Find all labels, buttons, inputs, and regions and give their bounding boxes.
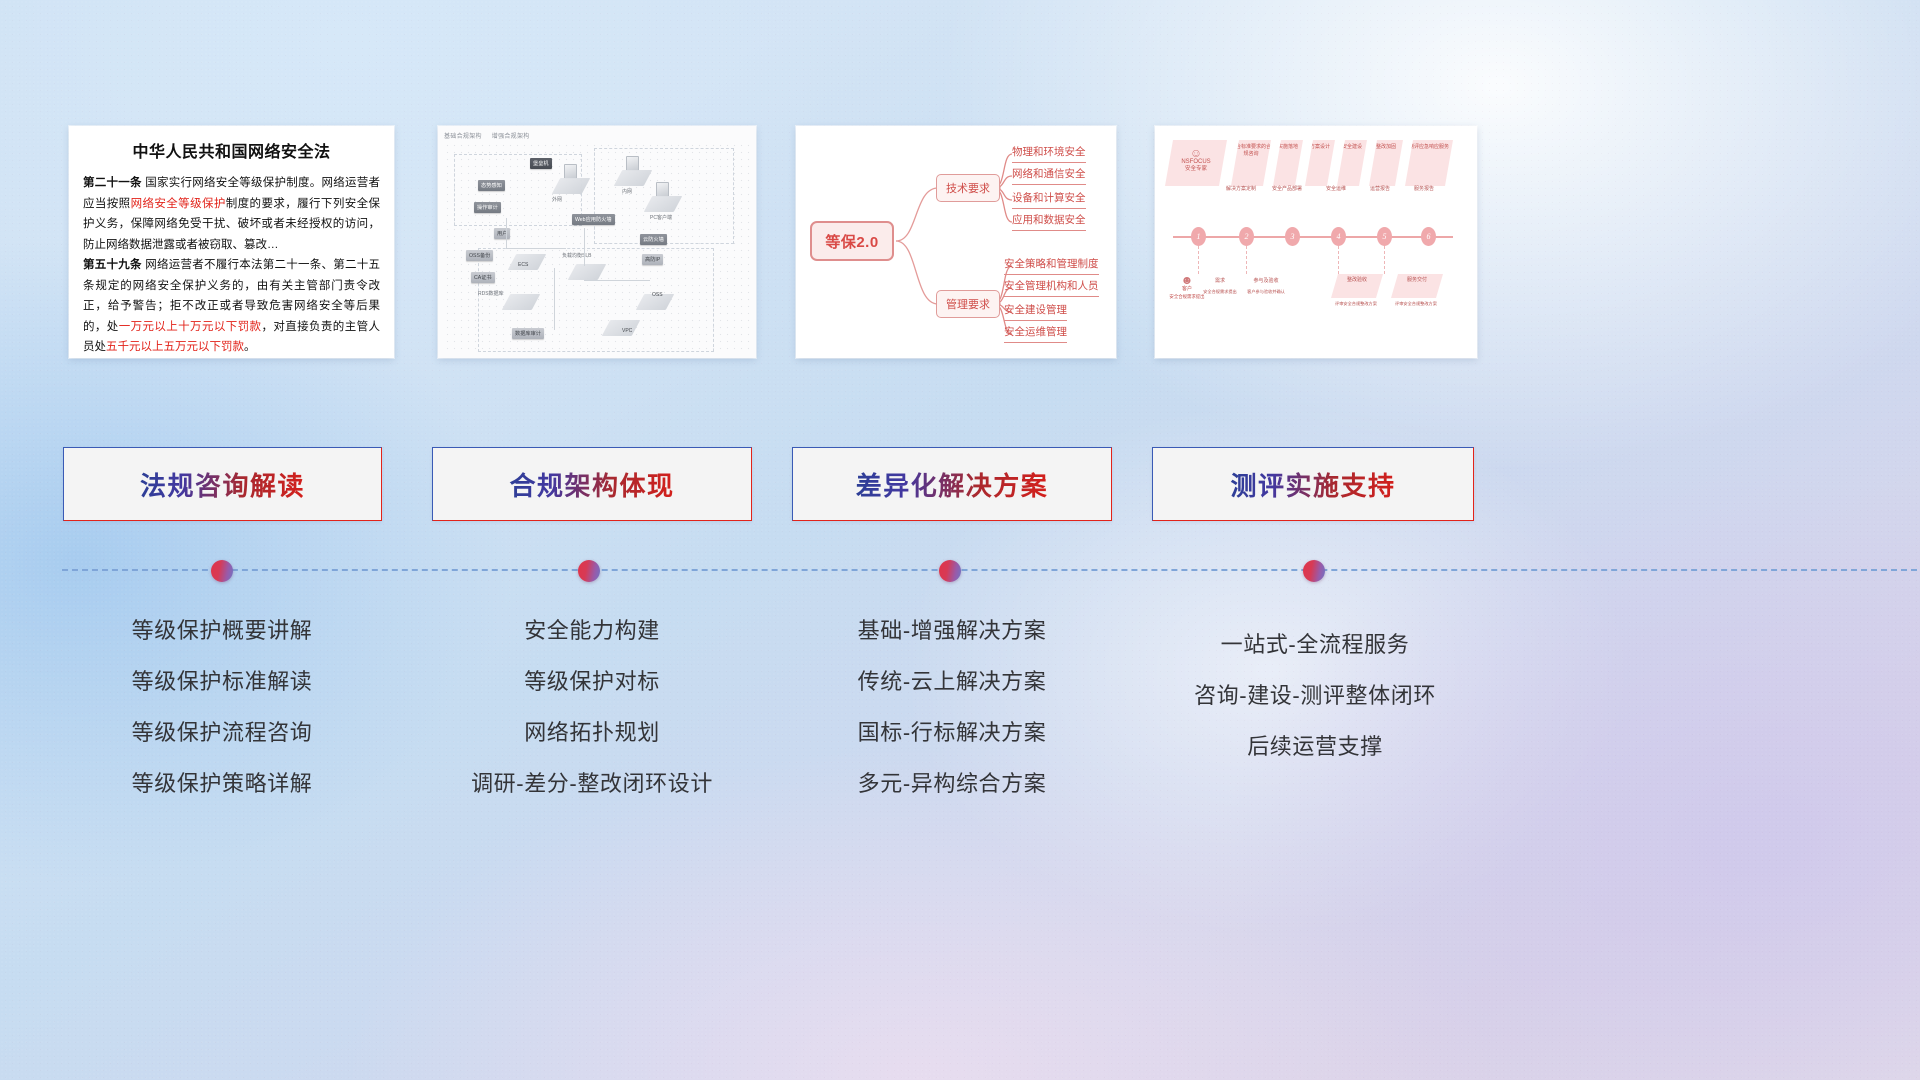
preview-cards-row: 中华人民共和国网络安全法 第二十一条 国家实行网络安全等级保护制度。网络运营者应…	[0, 126, 1920, 364]
nsfocus-bottom-tag-0: 需求	[1203, 278, 1237, 285]
nsfocus-ribbon-item-3: 安全建设	[1337, 140, 1367, 186]
architecture-diagram: 基础合规架构 增强合规架构 堡垒机 态势感知 操作审计 用户 CA证书 外网	[438, 126, 756, 358]
arch-node-oss-backup: OSS备份	[466, 250, 493, 261]
nsfocus-ribbon-item-1: 实施落地	[1273, 140, 1303, 186]
mindmap-root-node: 等保2.0	[810, 221, 894, 261]
nsfocus-bottom-trap-0-title: 整改验收	[1347, 277, 1367, 283]
arch-node-waf: Web应用防火墙	[572, 214, 615, 225]
mindmap-leaf-network: 网络和通信安全	[1012, 166, 1086, 185]
nsfocus-step-4: 4	[1331, 227, 1346, 246]
timeline-dashed-line	[62, 569, 1917, 571]
architecture-tab-basic: 基础合规架构	[444, 134, 482, 140]
list-item: 等级保护标准解读	[62, 656, 382, 707]
headline-box-regulation-consulting[interactable]: 法规咨询解读	[63, 447, 382, 521]
article-59-highlight-1: 一万元以上十万元以下罚款	[119, 321, 262, 333]
article-21-label: 第二十一条	[83, 177, 142, 189]
arch-label-slb: 负载均衡SLB	[562, 252, 591, 259]
nsfocus-step-3: 3	[1285, 227, 1300, 246]
card-nsfocus-service-flow[interactable]: ☺ NSFOCUS 安全专家 符合标准要求的合规咨询 实施落地 方案设计 安全建…	[1155, 126, 1477, 358]
list-item: 等级保护对标	[432, 656, 752, 707]
nsfocus-diagram: ☺ NSFOCUS 安全专家 符合标准要求的合规咨询 实施落地 方案设计 安全建…	[1155, 126, 1477, 358]
column-regulation-consulting: 等级保护概要讲解 等级保护标准解读 等级保护流程咨询 等级保护策略详解	[62, 605, 382, 809]
nsfocus-customer-role: ☻ 客户 安全合规需求提出	[1167, 274, 1207, 300]
card-compliance-architecture[interactable]: 基础合规架构 增强合规架构 堡垒机 态势感知 操作审计 用户 CA证书 外网	[438, 126, 756, 358]
nsfocus-bottom-tag-1: 参与及验收	[1247, 278, 1285, 285]
nsfocus-ribbon-item-4: 整改加固	[1369, 140, 1403, 186]
nsfocus-bottom-trap-0: 整改验收	[1331, 274, 1383, 298]
mindmap-leaf-org: 安全管理机构和人员	[1004, 278, 1099, 297]
mindmap-leaf-physical: 物理和环境安全	[1012, 144, 1086, 163]
nsfocus-bottom-trap-1-title: 服务交付	[1407, 277, 1427, 283]
list-item: 传统-云上解决方案	[792, 656, 1112, 707]
nsfocus-sub-item-3: 运营报告	[1363, 186, 1397, 193]
arch-node-situation: 态势感知	[478, 180, 505, 191]
law-title: 中华人民共和国网络安全法	[83, 138, 380, 162]
list-item: 后续运营支撑	[1155, 721, 1475, 772]
nsfocus-sub-item-2: 安全运维	[1319, 186, 1353, 193]
timeline-dot-3[interactable]	[939, 560, 961, 582]
list-item: 调研-差分-整改闭环设计	[432, 758, 752, 809]
arch-node-audit: 操作审计	[474, 202, 501, 213]
mindmap-leaf-operation: 安全运维管理	[1004, 324, 1067, 343]
architecture-canvas: 堡垒机 态势感知 操作审计 用户 CA证书 外网 内网 PC客户端 Web应用防…	[444, 142, 750, 352]
arch-label-rds: RDS数据库	[478, 290, 504, 297]
headline-box-compliance-architecture[interactable]: 合规架构体现	[432, 447, 752, 521]
nsfocus-bottom-tag-1-sub: 客户参与验收并确认	[1243, 288, 1289, 295]
column-compliance-architecture: 安全能力构建 等级保护对标 网络拓扑规划 调研-差分-整改闭环设计	[432, 605, 752, 809]
nsfocus-brand-sub: 安全专家	[1165, 166, 1227, 173]
list-item: 多元-异构综合方案	[792, 758, 1112, 809]
timeline-dot-2[interactable]	[578, 560, 600, 582]
column-assessment-support: 一站式-全流程服务 咨询-建设-测评整体闭环 后续运营支撑	[1155, 619, 1475, 772]
nsfocus-bottom-trap-1: 服务交付	[1391, 274, 1443, 298]
card-cybersecurity-law[interactable]: 中华人民共和国网络安全法 第二十一条 国家实行网络安全等级保护制度。网络运营者应…	[69, 126, 394, 358]
nsfocus-sub-item-1: 安全产品部署	[1267, 186, 1307, 193]
headline-row: 法规咨询解读 合规架构体现 差异化解决方案 测评实施支持	[0, 447, 1920, 522]
arch-node-ca: CA证书	[471, 272, 495, 283]
mindmap-leaf-construction: 安全建设管理	[1004, 302, 1067, 321]
architecture-tabs: 基础合规架构 增强合规架构	[444, 131, 538, 140]
mindmap-leaf-policy: 安全策略和管理制度	[1004, 256, 1099, 275]
nsfocus-sub-item-0: 解决方案定制	[1221, 186, 1261, 193]
mindmap-leaf-device: 设备和计算安全	[1012, 190, 1086, 209]
architecture-tab-enhanced: 增强合规架构	[492, 134, 530, 140]
nsfocus-ribbon-item-5: 测评应急响应服务	[1405, 140, 1453, 186]
nsfocus-bottom-trap-0-sub: 评审安全合规整改方案	[1327, 300, 1385, 307]
arch-label-internal: 内网	[622, 188, 632, 195]
arch-label-external: 外网	[552, 196, 562, 203]
arch-label-vpc: VPC	[622, 328, 632, 334]
headline-box-assessment-support[interactable]: 测评实施支持	[1152, 447, 1474, 521]
list-item: 等级保护概要讲解	[62, 605, 382, 656]
law-article-21: 第二十一条 国家实行网络安全等级保护制度。网络运营者应当按照网络安全等级保护制度…	[83, 173, 380, 255]
arch-node-high-defense: 高防IP	[642, 254, 663, 265]
timeline-dot-1[interactable]	[211, 560, 233, 582]
nsfocus-ribbon-item-2: 方案设计	[1305, 140, 1335, 186]
headline-label-4: 测评实施支持	[1230, 466, 1395, 503]
arch-node-db-audit: 数据库审计	[512, 328, 544, 339]
arch-node-user: 用户	[494, 228, 510, 239]
list-item: 一站式-全流程服务	[1155, 619, 1475, 670]
headline-label-3: 差异化解决方案	[856, 466, 1049, 503]
arch-node-security-butler: 堡垒机	[530, 158, 552, 169]
nsfocus-step-2: 2	[1239, 227, 1254, 246]
mindmap-branch-technical: 技术要求	[936, 174, 1000, 202]
mindmap: 等保2.0 技术要求 管理要求 物理和环境安全 网络和通信安全 设备和计算安全 …	[796, 126, 1116, 358]
card-mindmap-dengbao[interactable]: 等保2.0 技术要求 管理要求 物理和环境安全 网络和通信安全 设备和计算安全 …	[796, 126, 1116, 358]
nsfocus-step-6: 6	[1421, 227, 1436, 246]
nsfocus-step-1: 1	[1191, 227, 1206, 246]
list-item: 咨询-建设-测评整体闭环	[1155, 670, 1475, 721]
nsfocus-sub-item-4: 服务报告	[1407, 186, 1441, 193]
nsfocus-bottom-tag-0-sub: 安全合规需求提出	[1199, 288, 1241, 295]
timeline-dot-4[interactable]	[1303, 560, 1325, 582]
arch-label-ecs: ECS	[518, 262, 528, 268]
list-item: 基础-增强解决方案	[792, 605, 1112, 656]
list-item: 网络拓扑规划	[432, 707, 752, 758]
headline-label-2: 合规架构体现	[509, 466, 674, 503]
nsfocus-ribbon-item-0: 符合标准要求的合规咨询	[1231, 140, 1271, 186]
arch-node-cloud-fw: 云防火墙	[640, 234, 667, 245]
list-item: 等级保护策略详解	[62, 758, 382, 809]
list-item: 安全能力构建	[432, 605, 752, 656]
nsfocus-bottom-trap-1-sub: 评审安全合规整改方案	[1387, 300, 1445, 307]
nsfocus-step-5: 5	[1377, 227, 1392, 246]
arch-label-oss: OSS	[652, 292, 663, 298]
headline-box-differentiated-solution[interactable]: 差异化解决方案	[792, 447, 1112, 521]
article-59-text-c: 。	[244, 341, 256, 353]
mindmap-leaf-application: 应用和数据安全	[1012, 212, 1086, 231]
article-59-label: 第五十九条	[83, 259, 142, 271]
nsfocus-bottom-tag-0-title: 需求	[1215, 278, 1225, 284]
list-item: 国标-行标解决方案	[792, 707, 1112, 758]
nsfocus-bottom-tag-1-title: 参与及验收	[1253, 278, 1278, 284]
law-content: 中华人民共和国网络安全法 第二十一条 国家实行网络安全等级保护制度。网络运营者应…	[69, 126, 394, 358]
list-item: 等级保护流程咨询	[62, 707, 382, 758]
mindmap-branch-management: 管理要求	[936, 290, 1000, 318]
article-21-highlight: 网络安全等级保护	[131, 198, 226, 210]
nsfocus-brand-chevron: ☺ NSFOCUS 安全专家	[1165, 140, 1227, 186]
arch-label-pc: PC客户端	[650, 214, 672, 221]
headline-label-1: 法规咨询解读	[140, 466, 305, 503]
column-differentiated-solution: 基础-增强解决方案 传统-云上解决方案 国标-行标解决方案 多元-异构综合方案	[792, 605, 1112, 809]
nsfocus-brand: NSFOCUS	[1165, 159, 1227, 166]
article-59-highlight-2: 五千元以上五万元以下罚款	[106, 341, 244, 353]
timeline	[0, 560, 1920, 590]
nsfocus-ribbon: ☺ NSFOCUS 安全专家 符合标准要求的合规咨询 实施落地 方案设计 安全建…	[1165, 140, 1467, 186]
law-article-59: 第五十九条 网络运营者不履行本法第二十一条、第二十五条规定的网络安全保护义务的，…	[83, 255, 380, 358]
